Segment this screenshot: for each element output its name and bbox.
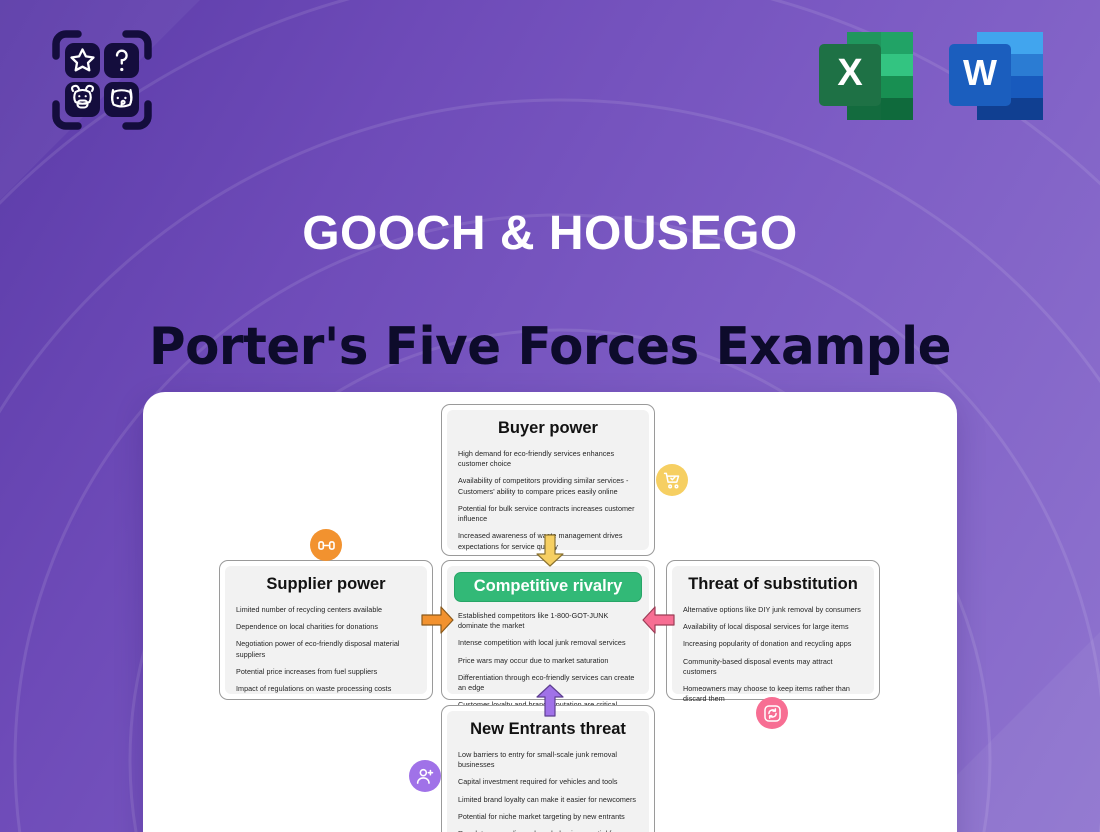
list-item: Availability of local disposal services … <box>683 622 863 632</box>
list-item: Community-based disposal events may attr… <box>683 657 863 677</box>
list-item: Impact of regulations on waste processin… <box>236 684 416 694</box>
force-title-substitution: Threat of substitution <box>683 575 863 594</box>
force-box-rivalry[interactable]: Competitive rivalry Established competit… <box>441 560 655 700</box>
slide-canvas: X W GOOCH & HOUSEGO Porter's Five Forces… <box>0 0 1100 832</box>
arrow-left-substitution-to-rivalry <box>641 605 675 635</box>
quiz-grid-logo[interactable] <box>48 26 156 134</box>
list-item: Availability of competitors providing si… <box>458 476 638 496</box>
arrow-down-buyer-to-rivalry <box>535 534 565 568</box>
force-points-substitution: Alternative options like DIY junk remova… <box>683 605 863 705</box>
word-icon-letter: W <box>963 52 997 93</box>
force-title-new-entrants: New Entrants threat <box>458 720 638 739</box>
list-item: Potential for niche market targeting by … <box>458 812 638 822</box>
force-box-substitution[interactable]: Threat of substitution Alternative optio… <box>666 560 880 700</box>
force-points-supplier: Limited number of recycling centers avai… <box>236 605 416 694</box>
add-person-icon[interactable] <box>409 760 441 792</box>
brand-title: GOOCH & HOUSEGO <box>0 206 1100 261</box>
list-item: Increasing popularity of donation and re… <box>683 639 863 649</box>
list-item: Limited brand loyalty can make it easier… <box>458 795 638 805</box>
logo-tile-dog <box>104 82 139 117</box>
refresh-sync-icon[interactable] <box>756 697 788 729</box>
page-title: Porter's Five Forces Example <box>22 317 1078 377</box>
office-app-icons: X W <box>817 30 1045 122</box>
diagram-card: Buyer power High demand for eco-friendly… <box>143 392 957 832</box>
list-item: High demand for eco-friendly services en… <box>458 449 638 469</box>
list-item: Dependence on local charities for donati… <box>236 622 416 632</box>
list-item: Low barriers to entry for small-scale ju… <box>458 750 638 770</box>
force-box-new-entrants[interactable]: New Entrants threat Low barriers to entr… <box>441 705 655 832</box>
list-item: Price wars may occur due to market satur… <box>458 656 638 666</box>
force-title-buyer: Buyer power <box>458 419 638 438</box>
list-item: Potential price increases from fuel supp… <box>236 667 416 677</box>
arrow-right-supplier-to-rivalry <box>421 605 455 635</box>
porters-five-forces-diagram: Buyer power High demand for eco-friendly… <box>143 392 957 832</box>
excel-icon-letter: X <box>837 52 863 94</box>
list-item: Established competitors like 1-800-GOT-J… <box>458 611 638 631</box>
force-title-supplier: Supplier power <box>236 575 416 594</box>
force-points-new-entrants: Low barriers to entry for small-scale ju… <box>458 750 638 832</box>
excel-icon[interactable]: X <box>817 30 915 122</box>
list-item: Potential for bulk service contracts inc… <box>458 504 638 524</box>
list-item: Intense competition with local junk remo… <box>458 638 638 648</box>
force-title-rivalry: Competitive rivalry <box>454 572 642 602</box>
shopping-cart-icon[interactable] <box>656 464 688 496</box>
list-item: Negotiation power of eco-friendly dispos… <box>236 639 416 659</box>
link-dumbbell-icon[interactable] <box>310 529 342 561</box>
arrow-up-entrants-to-rivalry <box>535 683 565 717</box>
list-item: Capital investment required for vehicles… <box>458 777 638 787</box>
force-box-supplier[interactable]: Supplier power Limited number of recycli… <box>219 560 433 700</box>
list-item: Alternative options like DIY junk remova… <box>683 605 863 615</box>
list-item: Limited number of recycling centers avai… <box>236 605 416 615</box>
word-icon[interactable]: W <box>947 30 1045 122</box>
logo-tile-star <box>65 43 100 78</box>
